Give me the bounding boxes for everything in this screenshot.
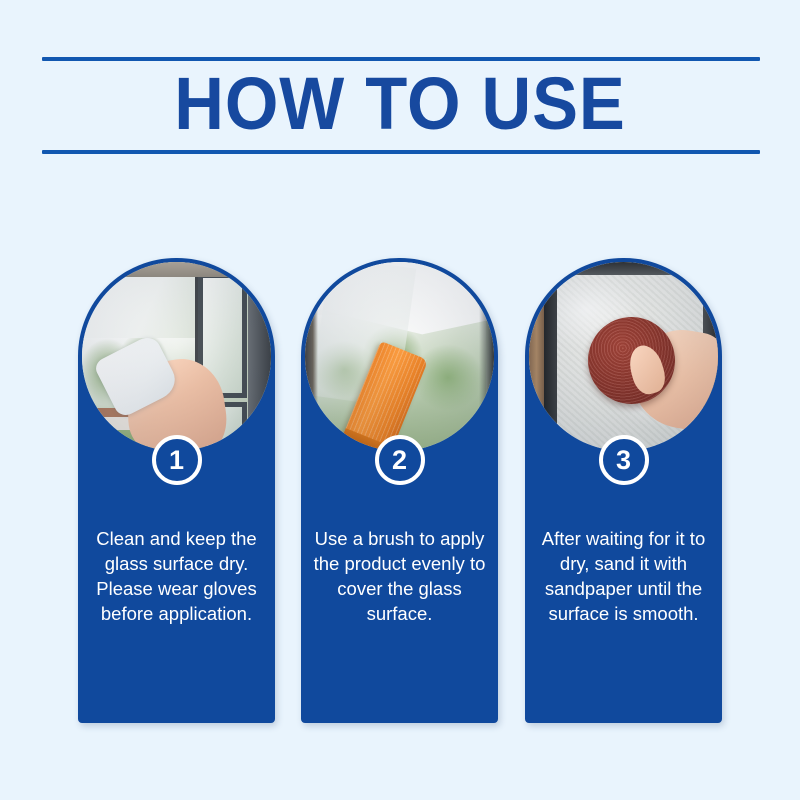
step-number-badge-1: 1 <box>152 435 202 485</box>
step-card-1: 1 Clean and keep the glass surface dry. … <box>78 258 275 723</box>
step-caption-1: Clean and keep the glass surface dry. Pl… <box>88 526 265 626</box>
step-caption-2: Use a brush to apply the product evenly … <box>311 526 488 626</box>
step-card-2: 2 Use a brush to apply the product evenl… <box>301 258 498 723</box>
steps-container: 1 Clean and keep the glass surface dry. … <box>0 0 800 800</box>
step-number-badge-2: 2 <box>375 435 425 485</box>
window-frame-top <box>544 262 718 275</box>
step-card-3: 3 After waiting for it to dry, sand it w… <box>525 258 722 723</box>
window-frame-left <box>305 262 318 451</box>
step-caption-3: After waiting for it to dry, sand it wit… <box>535 526 712 626</box>
step-2-photo <box>305 262 494 451</box>
step-3-photo <box>529 262 718 451</box>
window-frame-right <box>479 262 494 451</box>
window-dark-edge <box>248 262 271 451</box>
window-frame-wood <box>529 262 544 451</box>
step-1-photo <box>82 262 271 451</box>
window-head-frame <box>82 262 271 277</box>
step-number-badge-3: 3 <box>599 435 649 485</box>
window-frame-dark <box>544 262 557 451</box>
